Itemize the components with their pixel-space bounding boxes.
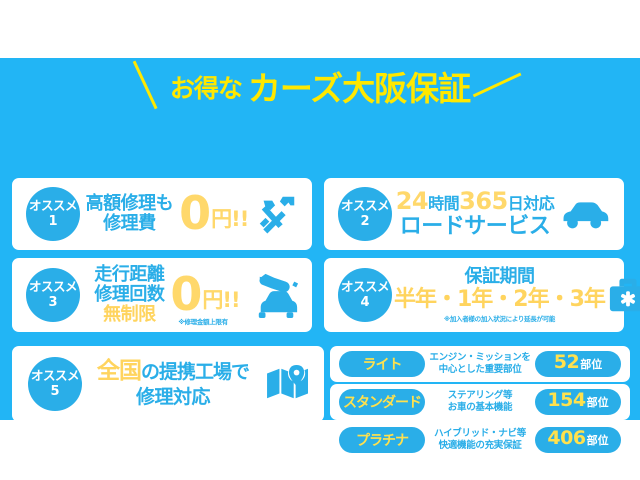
feature-4-note: ※加入者様の加入状況により延長が可能 <box>444 316 555 323</box>
feature-3-text: 走行距離 修理回数 無制限 <box>94 265 164 325</box>
plan-name-badge: ライト <box>339 351 425 377</box>
plan-description: エンジン・ミッションを 中心とした重要部位 <box>425 352 535 376</box>
hammer-pickaxe-icon <box>254 191 300 237</box>
badge-number: 3 <box>48 296 57 309</box>
recommend-badge-3: オススメ 3 <box>26 268 80 322</box>
plan-count-unit: 部位 <box>580 356 602 372</box>
plan-count-value: 52 <box>554 351 579 373</box>
feature-3-price-number: 0 <box>170 275 202 315</box>
feature-1-price-unit: 円!! <box>211 209 248 234</box>
map-pin-icon <box>264 364 312 404</box>
feature-5-line1: 全国の提携工場で <box>97 359 249 385</box>
plan-count-value: 154 <box>547 389 585 411</box>
badge-label: オススメ <box>29 200 77 213</box>
page-title: カーズ大阪保証 <box>248 72 470 105</box>
feature-3-price: 0 円!! ※修理金額上限有 <box>170 275 239 315</box>
feature-1-price: 0 円!! <box>179 194 248 234</box>
feature-2-text: 24時間365日対応 ロードサービス <box>396 188 555 240</box>
feature-1-price-number: 0 <box>179 194 211 234</box>
plan-description: ハイブリッド・ナビ等 快適機能の充実保証 <box>425 428 535 452</box>
hours-unit: 時間 <box>428 194 459 213</box>
feature-card-4: オススメ 4 保証期間 半年・1年・2年・3年 ※加入者様の加入状況により延長が… <box>324 258 624 332</box>
plan-row-light[interactable]: ライト エンジン・ミッションを 中心とした重要部位 52 部位 <box>330 346 630 382</box>
feature-3-line2: 修理回数 <box>94 285 164 305</box>
plan-desc-line2: 快適機能の充実保証 <box>439 440 522 452</box>
plan-desc-line2: 中心とした重要部位 <box>439 364 522 376</box>
plan-coverage-count: 406 部位 <box>535 427 621 453</box>
plan-coverage-count: 154 部位 <box>535 389 621 415</box>
feature-1-text: 高額修理も 修理費 <box>86 194 174 234</box>
plan-desc-line1: エンジン・ミッションを <box>429 352 530 364</box>
recommend-badge-2: オススメ 2 <box>338 187 392 241</box>
feature-5-line1-tail: の提携工場で <box>141 361 249 383</box>
feature-card-3: オススメ 3 走行距離 修理回数 無制限 0 円!! ※修理金額上限有 <box>12 258 312 332</box>
hours-value: 24 <box>396 187 428 215</box>
feature-5-text: 全国の提携工場で 修理対応 <box>97 359 249 408</box>
slash-right-icon: ／ <box>471 61 522 112</box>
plan-name-badge: スタンダード <box>339 389 425 415</box>
feature-card-2-body: 24時間365日対応 ロードサービス <box>392 188 558 240</box>
recommend-badge-1: オススメ 1 <box>26 187 80 241</box>
feature-2-line2: ロードサービス <box>400 215 551 240</box>
feature-card-5-body: 全国の提携工場で 修理対応 <box>82 359 264 408</box>
days-value: 365 <box>459 187 508 215</box>
feature-5-line2: 修理対応 <box>136 387 210 408</box>
badge-number: 4 <box>360 296 369 309</box>
feature-card-1: オススメ 1 高額修理も 修理費 0 円!! <box>12 178 312 250</box>
feature-card-3-body: 走行距離 修理回数 無制限 0 円!! ※修理金額上限有 <box>80 265 254 325</box>
feature-card-1-body: 高額修理も 修理費 0 円!! <box>80 194 254 234</box>
feature-card-4-body: 保証期間 半年・1年・2年・3年 ※加入者様の加入状況により延長が可能 <box>392 267 607 323</box>
plan-desc-line1: ステアリング等 <box>448 390 512 402</box>
nationwide-highlight: 全国 <box>97 358 141 384</box>
feature-4-text: 保証期間 半年・1年・2年・3年 ※加入者様の加入状況により延長が可能 <box>394 267 605 323</box>
banner-title: ＼ お得な カーズ大阪保証 ／ <box>0 64 640 112</box>
badge-number: 2 <box>360 215 369 228</box>
slash-left-icon: ＼ <box>119 61 170 112</box>
feature-card-5: オススメ 5 全国の提携工場で 修理対応 <box>12 346 324 422</box>
feature-card-2: オススメ 2 24時間365日対応 ロードサービス <box>324 178 624 250</box>
recommend-badge-4: オススメ 4 <box>338 268 392 322</box>
screenshot-root: ＼ お得な カーズ大阪保証 ／ オススメ 1 高額修理も 修理費 0 円!! <box>0 0 640 480</box>
plan-row-platinum[interactable]: プラチナ ハイブリッド・ナビ等 快適機能の充実保証 406 部位 <box>330 422 630 458</box>
badge-number: 1 <box>48 215 57 228</box>
title-lead: お得な <box>170 76 242 101</box>
feature-1-line2: 修理費 <box>103 214 156 234</box>
warranty-banner: ＼ お得な カーズ大阪保証 ／ オススメ 1 高額修理も 修理費 0 円!! <box>0 58 640 420</box>
plan-name-badge: プラチナ <box>339 427 425 453</box>
days-unit: 日対応 <box>508 194 555 213</box>
badge-label: オススメ <box>341 281 389 294</box>
feature-3-price-unit: 円!! <box>202 290 239 315</box>
badge-label: オススメ <box>29 281 77 294</box>
feature-2-line1: 24時間365日対応 <box>396 188 555 215</box>
plan-description: ステアリング等 お車の基本機能 <box>425 390 535 414</box>
feature-1-line1: 高額修理も <box>86 194 174 214</box>
wrench-car-icon <box>254 271 300 319</box>
plan-desc-line2: お車の基本機能 <box>448 402 512 414</box>
feature-3-note: ※修理金額上限有 <box>178 316 227 326</box>
badge-label: オススメ <box>341 200 389 213</box>
warranty-period-label: 保証期間 <box>464 267 534 287</box>
warranty-period-values: 半年・1年・2年・3年 <box>394 288 605 313</box>
badge-label: オススメ <box>31 370 79 383</box>
feature-3-line3: 無制限 <box>103 305 156 325</box>
plan-desc-line1: ハイブリッド・ナビ等 <box>434 428 526 440</box>
recommend-badge-5: オススメ 5 <box>28 357 82 411</box>
badge-number: 5 <box>50 385 59 398</box>
plan-coverage-count: 52 部位 <box>535 351 621 377</box>
plan-count-unit: 部位 <box>587 432 609 448</box>
toolbox-icon <box>607 275 640 315</box>
plan-count-unit: 部位 <box>587 394 609 410</box>
feature-3-line1: 走行距離 <box>94 265 164 285</box>
car-side-icon <box>558 197 612 231</box>
plan-count-value: 406 <box>547 427 585 449</box>
plan-row-standard[interactable]: スタンダード ステアリング等 お車の基本機能 154 部位 <box>330 384 630 420</box>
